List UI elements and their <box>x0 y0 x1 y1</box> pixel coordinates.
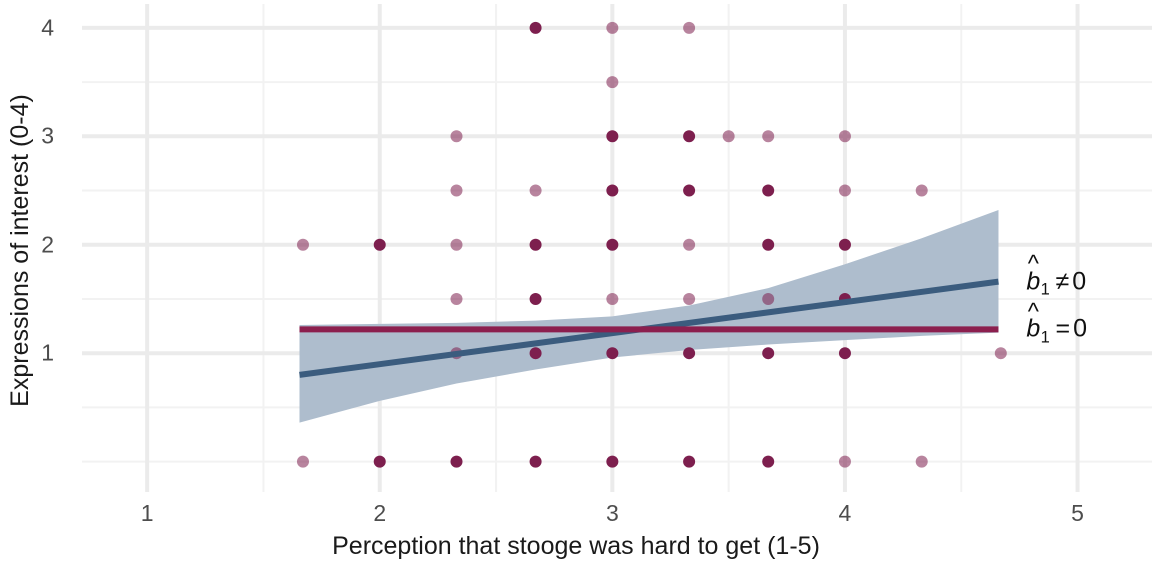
data-point <box>530 22 542 34</box>
annotation-symbol: ^b <box>1026 315 1040 344</box>
annotation-symbol: ^b <box>1026 267 1040 296</box>
x-tick-label: 2 <box>373 500 386 527</box>
data-point <box>297 239 309 251</box>
data-point <box>374 456 386 468</box>
y-tick-label: 3 <box>14 123 54 150</box>
data-point <box>839 185 851 197</box>
annotation-slope-zero: ^b1=0 <box>1026 315 1087 344</box>
data-point <box>530 347 542 359</box>
annotation-operator: = <box>1055 315 1070 343</box>
annotation-value: 0 <box>1073 315 1087 343</box>
data-point <box>451 293 463 305</box>
data-point <box>762 185 774 197</box>
data-point <box>683 347 695 359</box>
annotation-subscript: 1 <box>1041 280 1050 298</box>
data-point <box>683 130 695 142</box>
data-point <box>530 293 542 305</box>
data-point <box>683 456 695 468</box>
data-point <box>451 130 463 142</box>
x-tick-label: 1 <box>141 500 154 527</box>
data-point <box>995 347 1007 359</box>
data-point <box>606 22 618 34</box>
data-point <box>451 239 463 251</box>
data-point <box>839 456 851 468</box>
hat-accent: ^ <box>1028 300 1039 324</box>
y-tick-label: 2 <box>14 231 54 258</box>
data-point <box>762 130 774 142</box>
data-point <box>606 293 618 305</box>
data-point <box>606 130 618 142</box>
data-point <box>683 185 695 197</box>
confidence-interval-area <box>299 210 998 423</box>
data-point <box>451 456 463 468</box>
data-point <box>530 239 542 251</box>
data-point <box>530 185 542 197</box>
regression-scatter-figure: Expressions of interest (0-4) Perception… <box>0 0 1152 576</box>
regression-line-group <box>299 282 998 375</box>
data-point <box>374 239 386 251</box>
annotation-slope-nonzero: ^b1≠0 <box>1026 267 1086 296</box>
data-point <box>606 239 618 251</box>
annotation-subscript: 1 <box>1041 328 1050 346</box>
x-axis-title-text: Perception that stooge was hard to get (… <box>332 532 820 560</box>
annotation-operator: ≠ <box>1055 267 1069 295</box>
y-tick-label: 4 <box>14 14 54 41</box>
data-point <box>723 130 735 142</box>
plot-canvas <box>0 0 1152 576</box>
data-point <box>839 239 851 251</box>
data-point <box>606 76 618 88</box>
data-point <box>762 347 774 359</box>
x-tick-label: 3 <box>606 500 619 527</box>
x-axis-title: Perception that stooge was hard to get (… <box>0 532 1152 561</box>
data-point <box>451 185 463 197</box>
annotation-value: 0 <box>1072 267 1086 295</box>
data-point <box>683 293 695 305</box>
data-point <box>762 293 774 305</box>
data-point <box>839 347 851 359</box>
x-tick-label: 5 <box>1071 500 1084 527</box>
data-point <box>606 347 618 359</box>
data-point <box>297 456 309 468</box>
data-point <box>683 239 695 251</box>
data-point <box>530 456 542 468</box>
data-point <box>839 130 851 142</box>
data-point <box>606 185 618 197</box>
data-point <box>762 239 774 251</box>
data-point <box>683 22 695 34</box>
data-point <box>762 456 774 468</box>
data-point <box>916 456 928 468</box>
data-point <box>916 185 928 197</box>
x-tick-label: 4 <box>839 500 852 527</box>
y-tick-label: 1 <box>14 340 54 367</box>
data-point <box>606 456 618 468</box>
confidence-band <box>299 210 998 423</box>
hat-accent: ^ <box>1028 252 1039 276</box>
